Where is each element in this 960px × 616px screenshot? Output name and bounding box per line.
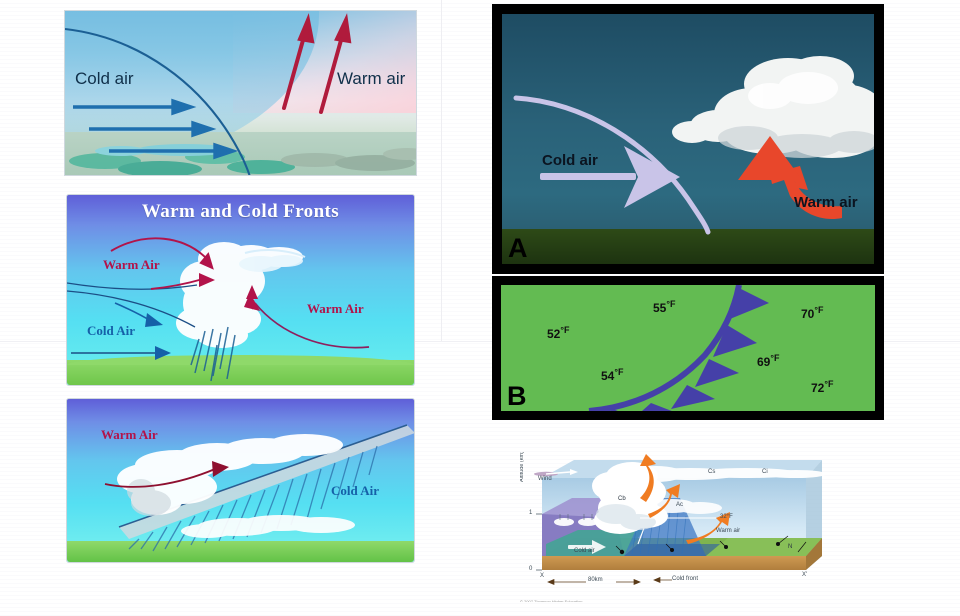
panel-b-temp-72-value: 72: [811, 381, 824, 395]
panel-warm-front-crosssection[interactable]: Warm Air Cold Air: [66, 398, 415, 563]
panel2-graphics: [67, 195, 415, 386]
panel1-warm-air-label: Warm air: [337, 69, 405, 89]
block-diagram-tick-1: 1: [529, 510, 532, 516]
block-diagram-tick-0: 0: [529, 566, 532, 572]
panel-b-temp-69: 69°F: [757, 353, 779, 369]
panel-warm-and-cold-fronts[interactable]: Warm and Cold Fronts: [66, 194, 415, 386]
panel-b-map: 52°F 55°F 54°F 70°F 69°F 72°F B: [501, 285, 875, 411]
panel2-warm-air-right-label: Warm Air: [307, 301, 364, 317]
layout-guide-vertical: [441, 0, 442, 342]
block-diagram-north-label: N: [788, 544, 792, 550]
block-diagram-cb-label: Cb: [618, 496, 626, 502]
panel-b-temp-52: 52°F: [547, 325, 569, 341]
panel-b-temp-72-unit: °F: [824, 379, 833, 389]
panel-a-image: Cold air Warm air A: [502, 14, 874, 264]
panel-b-temp-54-value: 54: [601, 369, 614, 383]
block-diagram-axis-label: Altitude (km): [520, 452, 525, 482]
block-diagram-x-left-label: X: [540, 573, 544, 579]
panel-b-temp-70-unit: °F: [814, 305, 823, 315]
block-diagram-wind-label: Wind: [538, 476, 552, 482]
block-diagram-credit: © 2007 Thomson Higher Education: [520, 599, 582, 602]
panel-b-temp-52-value: 52: [547, 327, 560, 341]
panel-a-cold-air-label: Cold air: [542, 152, 598, 169]
panel-b-temp-54: 54°F: [601, 367, 623, 383]
panel-b-temp-54-unit: °F: [614, 367, 623, 377]
block-diagram-cold-air-label: Cold air: [574, 548, 595, 554]
panel-b-temp-52-unit: °F: [560, 325, 569, 335]
panel-a-graphics: [502, 14, 874, 264]
panel1-cold-air-label: Cold air: [75, 69, 134, 89]
panel-b-temp-72: 72°F: [811, 379, 833, 395]
panel-cold-front-crosssection[interactable]: Cold air Warm air: [64, 10, 417, 176]
block-diagram-cs-label: Cs: [708, 469, 715, 475]
panel-block-diagram[interactable]: Altitude (km) 0 1 Wind Cb Cs Ci Ac 32°F …: [520, 452, 830, 602]
panel2-cold-air-label: Cold Air: [87, 323, 135, 339]
panel-b-temp-70: 70°F: [801, 305, 823, 321]
panel-a-warm-air-label: Warm air: [794, 194, 858, 211]
panel-b-temp-55-value: 55: [653, 301, 666, 315]
panel-b-letter: B: [507, 383, 527, 410]
panel3-warm-air-label: Warm Air: [101, 427, 158, 443]
block-diagram-cold-front-label: Cold front: [672, 576, 698, 582]
block-diagram-freezing-label: 32°F: [720, 514, 733, 520]
panel-a-cold-front-photo[interactable]: Cold air Warm air A: [492, 4, 884, 274]
panel-b-front-map[interactable]: 52°F 55°F 54°F 70°F 69°F 72°F B: [492, 276, 884, 420]
panel1-graphics: [65, 11, 417, 176]
panel-a-letter: A: [508, 235, 528, 262]
block-diagram-ac-label: Ac: [676, 502, 683, 508]
block-diagram-distance-label: 80km: [588, 577, 603, 583]
panel3-graphics: [67, 399, 415, 563]
panel-b-temp-69-value: 69: [757, 355, 770, 369]
panel-b-temp-55: 55°F: [653, 299, 675, 315]
panel-b-temp-70-value: 70: [801, 307, 814, 321]
block-diagram-warm-air-label: Warm air: [716, 528, 740, 534]
panel-b-temp-55-unit: °F: [666, 299, 675, 309]
panel2-warm-air-left-label: Warm Air: [103, 257, 160, 273]
panel-b-temp-69-unit: °F: [770, 353, 779, 363]
panel3-cold-air-label: Cold Air: [331, 483, 379, 499]
block-diagram-x-right-label: X': [802, 572, 807, 578]
block-diagram-ci-label: Ci: [762, 469, 768, 475]
